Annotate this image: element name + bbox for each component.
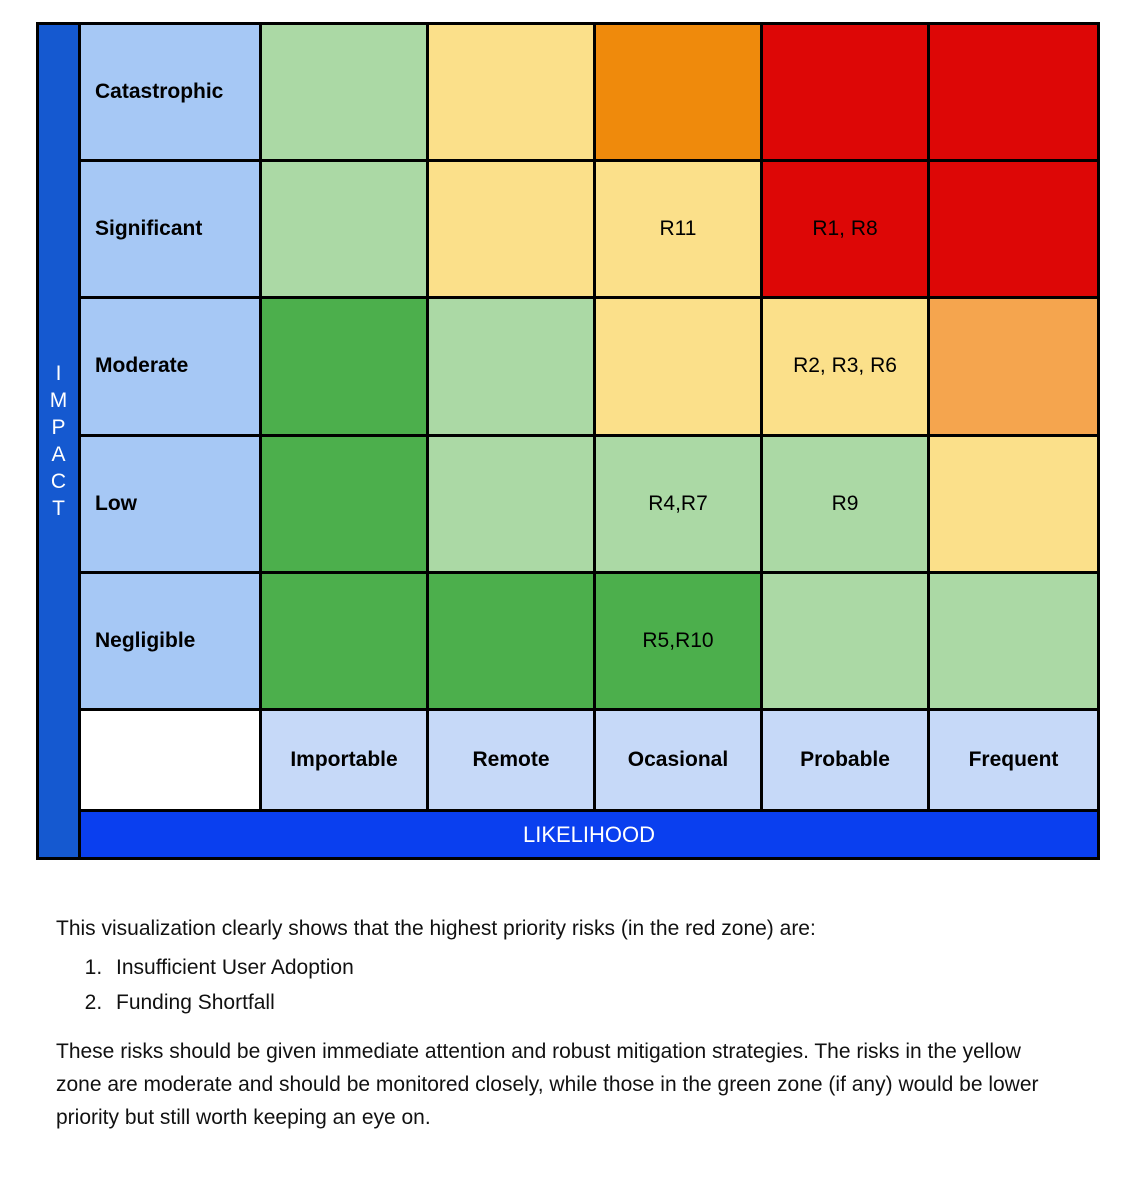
cell-risk-label: R4,R7 bbox=[648, 492, 708, 516]
matrix-cell-significant-importable[interactable] bbox=[262, 162, 429, 299]
matrix-cell-low-remote[interactable] bbox=[429, 437, 596, 574]
cell-risk-label: R5,R10 bbox=[642, 629, 713, 653]
matrix-cell-moderate-importable[interactable] bbox=[262, 299, 429, 436]
risk-matrix-grid: Catastrophic Significant R11 R1, R8 Mode… bbox=[81, 25, 1097, 809]
impact-level-text: Significant bbox=[95, 217, 202, 241]
impact-row-label-negligible: Negligible bbox=[81, 574, 262, 711]
impact-level-text: Catastrophic bbox=[95, 80, 223, 104]
matrix-cell-significant-frequent[interactable] bbox=[930, 162, 1097, 299]
risk-matrix: I M P A C T Catastrophic Significant R11… bbox=[36, 22, 1100, 860]
impact-axis-label: I M P A C T bbox=[50, 360, 68, 522]
impact-axis: I M P A C T bbox=[39, 25, 81, 857]
matrix-cell-low-probable[interactable]: R9 bbox=[763, 437, 930, 574]
cell-risk-label: R1, R8 bbox=[812, 217, 877, 241]
likelihood-level-text: Ocasional bbox=[628, 748, 728, 772]
matrix-cell-moderate-frequent[interactable] bbox=[930, 299, 1097, 436]
matrix-cell-negligible-ocasional[interactable]: R5,R10 bbox=[596, 574, 763, 711]
matrix-cell-catastrophic-probable[interactable] bbox=[763, 25, 930, 162]
matrix-cell-negligible-probable[interactable] bbox=[763, 574, 930, 711]
impact-level-text: Low bbox=[95, 492, 137, 516]
likelihood-header-probable: Probable bbox=[763, 711, 930, 809]
likelihood-level-text: Frequent bbox=[969, 748, 1059, 772]
cell-risk-label: R2, R3, R6 bbox=[793, 354, 897, 378]
matrix-cell-moderate-probable[interactable]: R2, R3, R6 bbox=[763, 299, 930, 436]
matrix-cell-moderate-ocasional[interactable] bbox=[596, 299, 763, 436]
impact-row-label-moderate: Moderate bbox=[81, 299, 262, 436]
cell-risk-label: R9 bbox=[832, 492, 859, 516]
impact-row-label-catastrophic: Catastrophic bbox=[81, 25, 262, 162]
matrix-cell-negligible-remote[interactable] bbox=[429, 574, 596, 711]
likelihood-header-ocasional: Ocasional bbox=[596, 711, 763, 809]
narrative-closing: These risks should be given immediate at… bbox=[56, 1035, 1046, 1134]
likelihood-axis: LIKELIHOOD bbox=[81, 809, 1097, 857]
matrix-cell-significant-ocasional[interactable]: R11 bbox=[596, 162, 763, 299]
matrix-cell-catastrophic-importable[interactable] bbox=[262, 25, 429, 162]
likelihood-header-frequent: Frequent bbox=[930, 711, 1097, 809]
narrative-intro: This visualization clearly shows that th… bbox=[56, 912, 1046, 945]
likelihood-level-text: Probable bbox=[800, 748, 890, 772]
matrix-corner-blank bbox=[81, 711, 262, 809]
matrix-cell-moderate-remote[interactable] bbox=[429, 299, 596, 436]
matrix-cell-catastrophic-remote[interactable] bbox=[429, 25, 596, 162]
likelihood-level-text: Importable bbox=[290, 748, 397, 772]
matrix-cell-significant-probable[interactable]: R1, R8 bbox=[763, 162, 930, 299]
cell-risk-label: R11 bbox=[660, 217, 697, 241]
matrix-cell-catastrophic-frequent[interactable] bbox=[930, 25, 1097, 162]
narrative-section: This visualization clearly shows that th… bbox=[56, 912, 1046, 1140]
matrix-cell-low-ocasional[interactable]: R4,R7 bbox=[596, 437, 763, 574]
likelihood-level-text: Remote bbox=[472, 748, 549, 772]
matrix-body: Catastrophic Significant R11 R1, R8 Mode… bbox=[81, 25, 1097, 857]
impact-level-text: Negligible bbox=[95, 629, 195, 653]
likelihood-header-remote: Remote bbox=[429, 711, 596, 809]
likelihood-axis-label: LIKELIHOOD bbox=[523, 822, 655, 848]
top-risks-list: Insufficient User Adoption Funding Short… bbox=[56, 951, 1046, 1019]
impact-row-label-low: Low bbox=[81, 437, 262, 574]
matrix-cell-low-frequent[interactable] bbox=[930, 437, 1097, 574]
list-item: Funding Shortfall bbox=[108, 986, 1046, 1019]
matrix-cell-low-importable[interactable] bbox=[262, 437, 429, 574]
matrix-cell-negligible-frequent[interactable] bbox=[930, 574, 1097, 711]
matrix-cell-negligible-importable[interactable] bbox=[262, 574, 429, 711]
matrix-cell-catastrophic-ocasional[interactable] bbox=[596, 25, 763, 162]
impact-row-label-significant: Significant bbox=[81, 162, 262, 299]
impact-level-text: Moderate bbox=[95, 354, 188, 378]
list-item: Insufficient User Adoption bbox=[108, 951, 1046, 984]
likelihood-header-importable: Importable bbox=[262, 711, 429, 809]
matrix-cell-significant-remote[interactable] bbox=[429, 162, 596, 299]
